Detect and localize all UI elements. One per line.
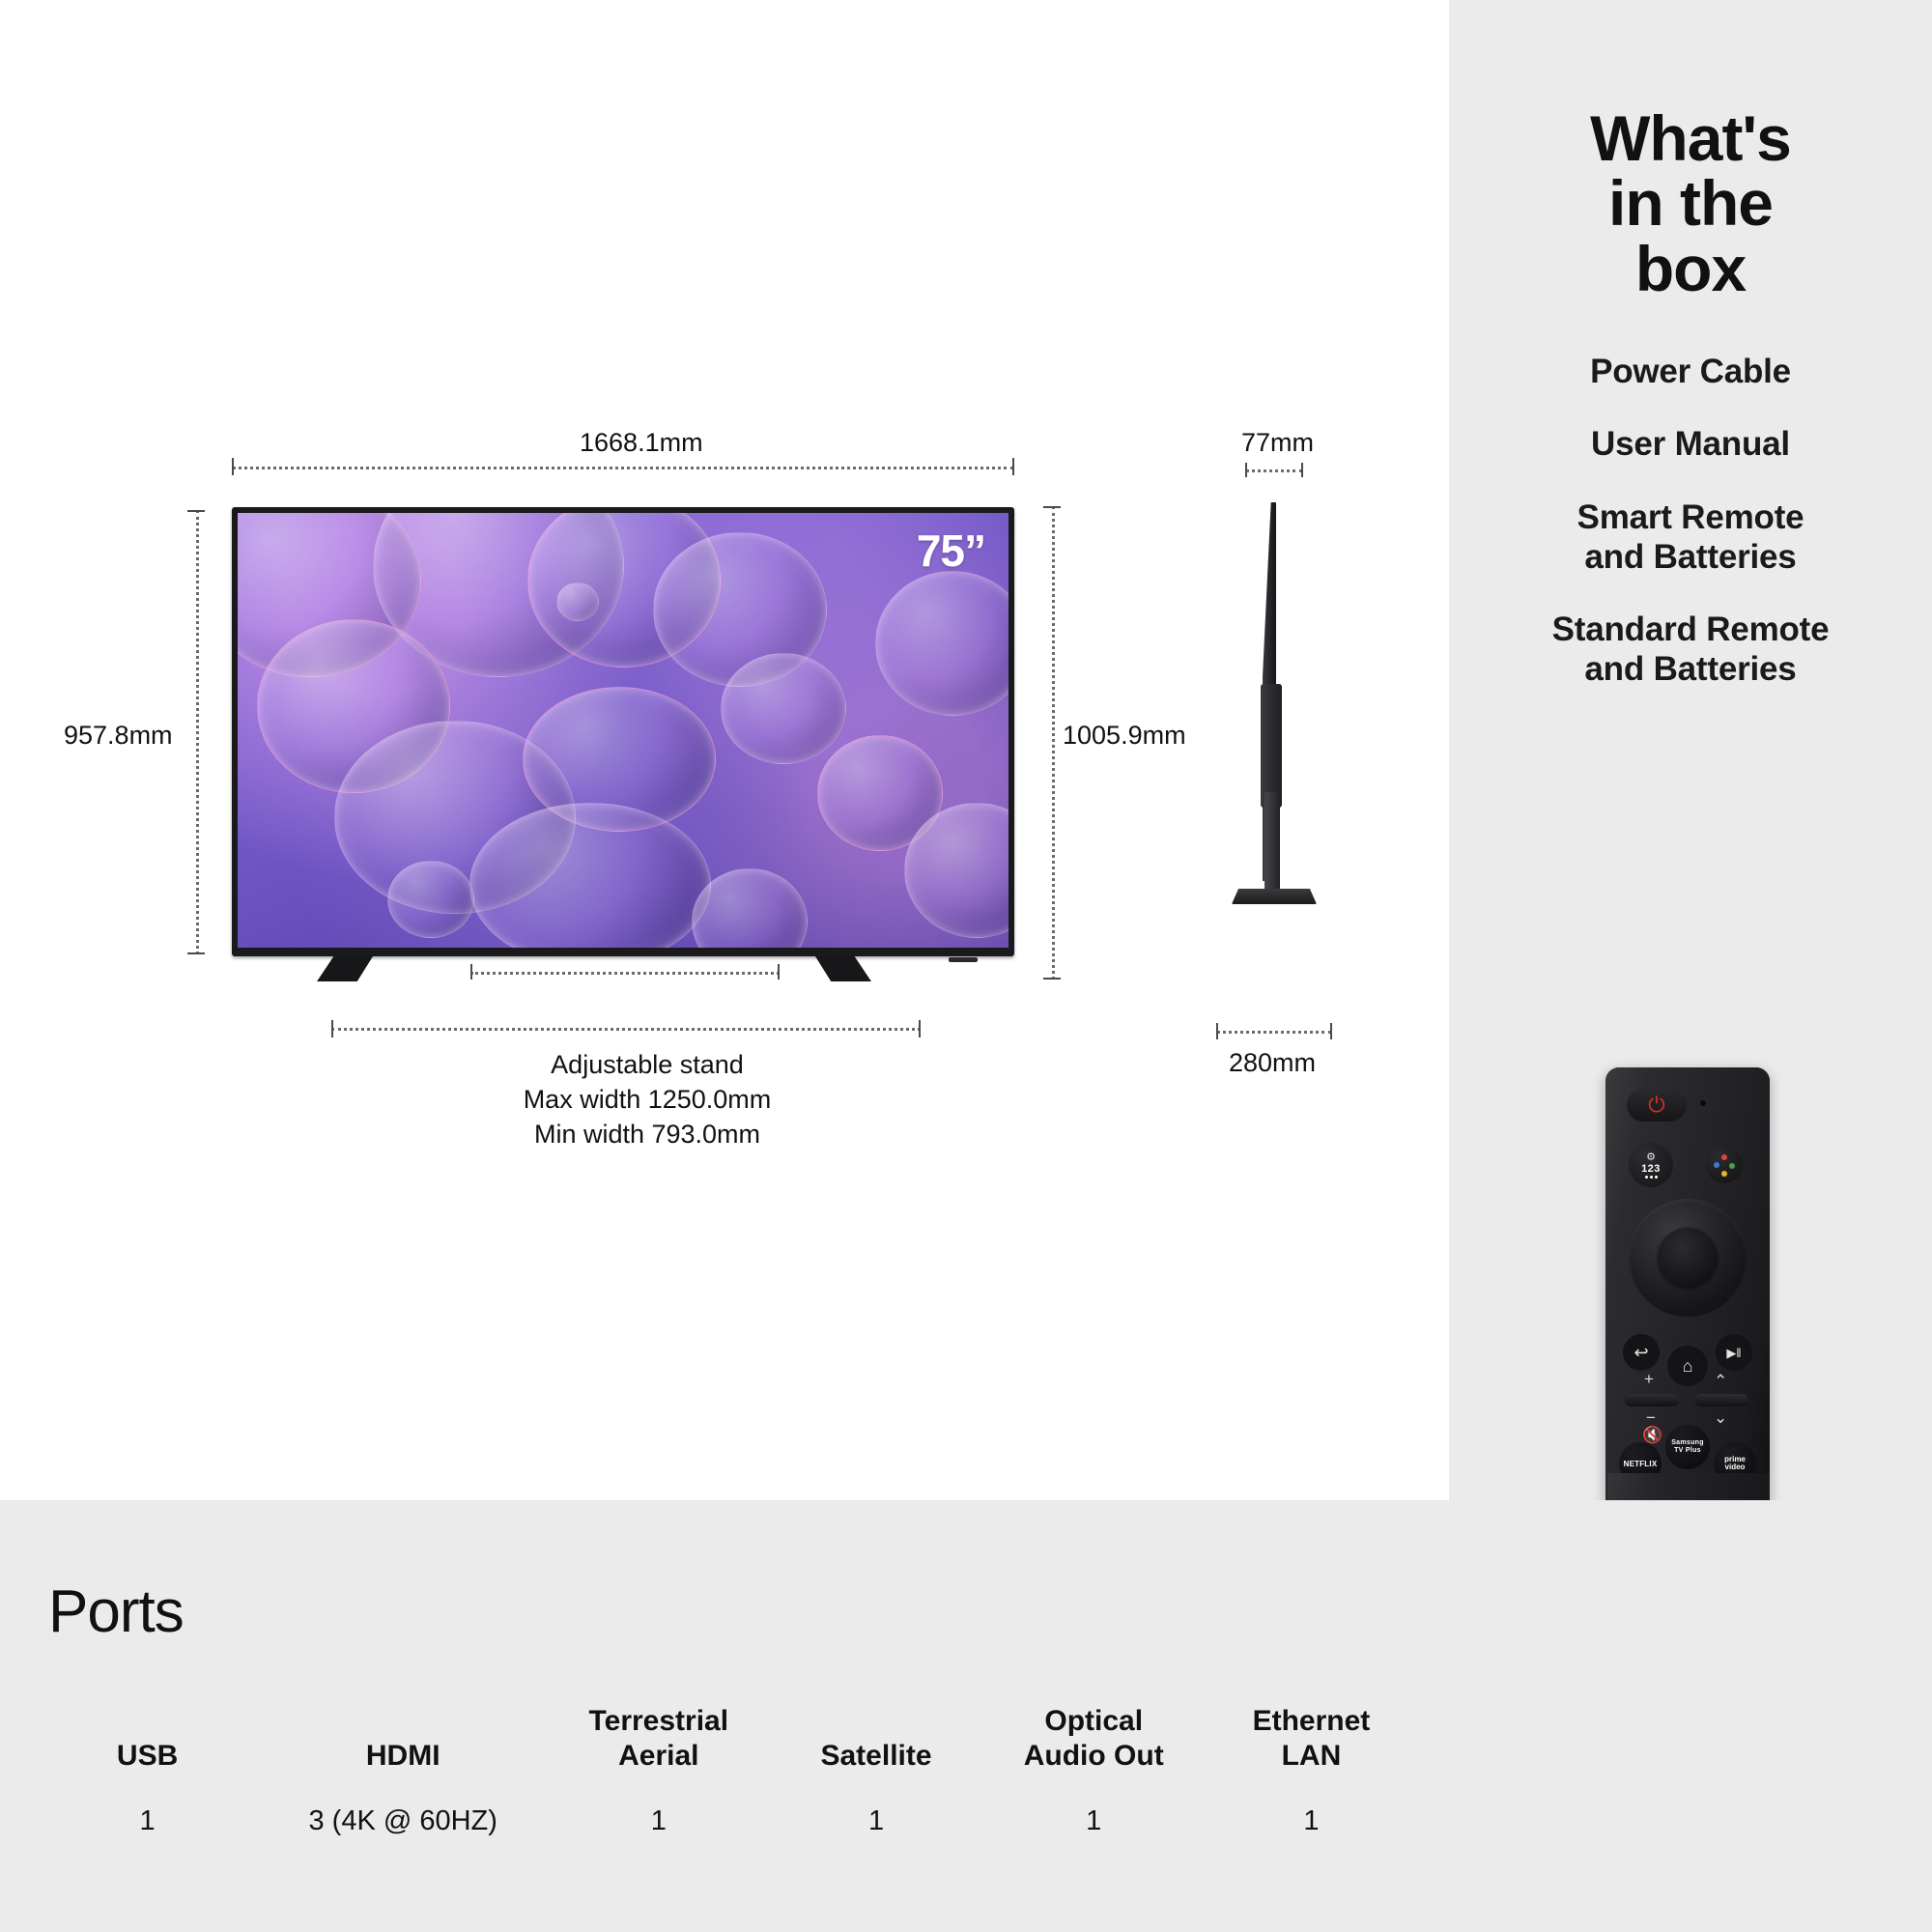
ports-value-usb: 1 xyxy=(39,1805,256,1837)
blue-dot-icon xyxy=(1714,1162,1719,1168)
gear-icon: ⚙ xyxy=(1646,1152,1656,1163)
remote-upper-body: ⏻ ⚙ 123 ↩ ⌂ xyxy=(1605,1067,1770,1473)
power-icon: ⏻ xyxy=(1648,1094,1664,1116)
ports-header-terrestrial-aerial: TerrestrialAerial xyxy=(550,1703,767,1773)
channel-down-icon: ⌄ xyxy=(1714,1409,1727,1426)
dim-line-base-depth xyxy=(1216,1031,1332,1034)
tv-side-housing xyxy=(1261,684,1282,808)
ports-section: Ports USB 1 HDMI 3 (4K @ 60HZ) Terrestri… xyxy=(0,1500,1932,1932)
title-line-1: What's xyxy=(1590,106,1791,171)
netflix-label: NETFLIX xyxy=(1624,1460,1658,1468)
dim-label-total-height: 1005.9mm xyxy=(1063,721,1186,751)
samsung-tv-plus-label: SamsungTV Plus xyxy=(1671,1439,1704,1454)
numeric-label: 123 xyxy=(1641,1164,1661,1175)
tv-screen-image: 75” xyxy=(238,513,1009,948)
ports-table: USB 1 HDMI 3 (4K @ 60HZ) TerrestrialAeri… xyxy=(39,1703,1420,1837)
stand-caption-line-3: Min width 793.0mm xyxy=(348,1118,947,1152)
stand-caption: Adjustable stand Max width 1250.0mm Min … xyxy=(348,1048,947,1152)
box-item: Standard Remoteand Batteries xyxy=(1449,610,1932,690)
dim-line-front-width xyxy=(232,467,1014,469)
ports-header-satellite: Satellite xyxy=(767,1703,984,1773)
ports-column-usb: USB 1 xyxy=(39,1703,256,1837)
stand-caption-line-2: Max width 1250.0mm xyxy=(348,1083,947,1118)
ports-header-ethernet-lan: EthernetLAN xyxy=(1203,1703,1420,1773)
more-dots-icon xyxy=(1645,1176,1658,1179)
dim-line-panel-height xyxy=(196,510,199,954)
dim-line-stand-inner xyxy=(470,972,780,975)
home-icon: ⌂ xyxy=(1683,1357,1693,1375)
volume-rocker[interactable] xyxy=(1625,1394,1679,1406)
ports-header-hdmi: HDMI xyxy=(256,1703,550,1773)
ports-title: Ports xyxy=(48,1577,184,1646)
title-line-3: box xyxy=(1590,237,1791,301)
ports-column-hdmi: HDMI 3 (4K @ 60HZ) xyxy=(256,1703,550,1837)
ports-column-terrestrial-aerial: TerrestrialAerial 1 xyxy=(550,1703,767,1837)
ports-column-satellite: Satellite 1 xyxy=(767,1703,984,1837)
channel-up-icon: ⌃ xyxy=(1714,1373,1727,1389)
tv-stand-base xyxy=(1232,889,1317,904)
select-button[interactable] xyxy=(1658,1228,1718,1288)
back-button[interactable]: ↩ xyxy=(1623,1334,1660,1371)
dim-tick-base-left xyxy=(1216,1023,1218,1039)
power-button[interactable]: ⏻ xyxy=(1627,1089,1687,1122)
ports-column-ethernet-lan: EthernetLAN 1 xyxy=(1203,1703,1420,1837)
home-button[interactable]: ⌂ xyxy=(1667,1346,1708,1386)
dim-line-stand-outer xyxy=(331,1028,921,1031)
red-dot-icon xyxy=(1721,1154,1727,1160)
ports-value-ethernet-lan: 1 xyxy=(1203,1805,1420,1837)
whats-in-the-box-title: What's in the box xyxy=(1590,106,1791,301)
ports-value-terrestrial-aerial: 1 xyxy=(550,1805,767,1837)
dim-tick-stand-outer-right xyxy=(919,1020,921,1037)
tv-bezel: 75” xyxy=(232,507,1014,956)
tv-front-view: 75” xyxy=(232,507,1014,956)
dim-tick-base-right xyxy=(1330,1023,1332,1039)
dim-label-side-depth: 77mm xyxy=(1241,428,1314,458)
dim-tick-stand-inner-right xyxy=(778,964,780,980)
yellow-dot-icon xyxy=(1721,1171,1727,1177)
dim-label-panel-height: 957.8mm xyxy=(64,721,173,751)
mute-icon[interactable]: 🔇 xyxy=(1642,1427,1662,1443)
ports-value-satellite: 1 xyxy=(767,1805,984,1837)
dim-tick-depth-right xyxy=(1301,463,1303,477)
samsung-tv-plus-button[interactable]: SamsungTV Plus xyxy=(1665,1425,1710,1469)
tv-stand-neck xyxy=(1264,792,1280,898)
title-line-2: in the xyxy=(1590,171,1791,236)
dim-label-front-width: 1668.1mm xyxy=(580,428,703,458)
ports-value-hdmi: 3 (4K @ 60HZ) xyxy=(256,1805,550,1837)
tv-leg-left xyxy=(317,956,373,981)
dim-tick-stand-outer-left xyxy=(331,1020,333,1037)
tv-size-badge: 75” xyxy=(917,525,985,577)
dim-tick-stand-inner-left xyxy=(470,964,472,980)
stand-caption-line-1: Adjustable stand xyxy=(348,1048,947,1083)
box-item: Power Cable xyxy=(1449,352,1932,391)
ports-header-optical-audio-out: OpticalAudio Out xyxy=(985,1703,1203,1773)
tv-side-view xyxy=(1212,502,1338,985)
box-item: User Manual xyxy=(1449,424,1932,464)
product-spec-sheet: 75” 1668.1mm 957.8mm 1005.9mm Adjustable… xyxy=(0,0,1932,1932)
box-item: Smart Remoteand Batteries xyxy=(1449,497,1932,578)
dim-tick-total-top xyxy=(1043,506,1061,508)
dim-line-total-height xyxy=(1052,506,1055,980)
dim-tick-right xyxy=(1012,458,1014,475)
prime-video-label: primevideo xyxy=(1724,1456,1746,1472)
dim-line-side-depth xyxy=(1245,469,1303,472)
green-dot-icon xyxy=(1729,1163,1735,1169)
volume-down-icon: − xyxy=(1646,1409,1656,1426)
ports-header-usb: USB xyxy=(39,1703,256,1773)
channel-rocker[interactable] xyxy=(1694,1394,1748,1406)
dim-tick-depth-left xyxy=(1245,463,1247,477)
ports-value-optical-audio-out: 1 xyxy=(985,1805,1203,1837)
ports-column-optical-audio-out: OpticalAudio Out 1 xyxy=(985,1703,1203,1837)
microphone-icon xyxy=(1700,1100,1706,1106)
dim-tick-panel-top xyxy=(187,510,205,512)
settings-numeric-button[interactable]: ⚙ 123 xyxy=(1629,1143,1673,1187)
dim-tick-panel-bottom xyxy=(187,952,205,954)
whats-in-the-box-list: Power Cable User Manual Smart Remoteand … xyxy=(1449,352,1932,690)
play-pause-button[interactable]: ▶‖ xyxy=(1716,1334,1752,1371)
play-pause-icon: ▶‖ xyxy=(1726,1347,1741,1359)
volume-up-icon: + xyxy=(1644,1371,1654,1387)
dim-label-base-depth: 280mm xyxy=(1229,1048,1316,1078)
dim-tick-total-bottom xyxy=(1043,978,1061,980)
tv-brand-plate xyxy=(949,957,978,962)
tv-leg-right xyxy=(815,956,871,981)
back-arrow-icon: ↩ xyxy=(1634,1344,1648,1361)
color-buttons[interactable] xyxy=(1706,1147,1743,1183)
dim-tick-left xyxy=(232,458,234,475)
